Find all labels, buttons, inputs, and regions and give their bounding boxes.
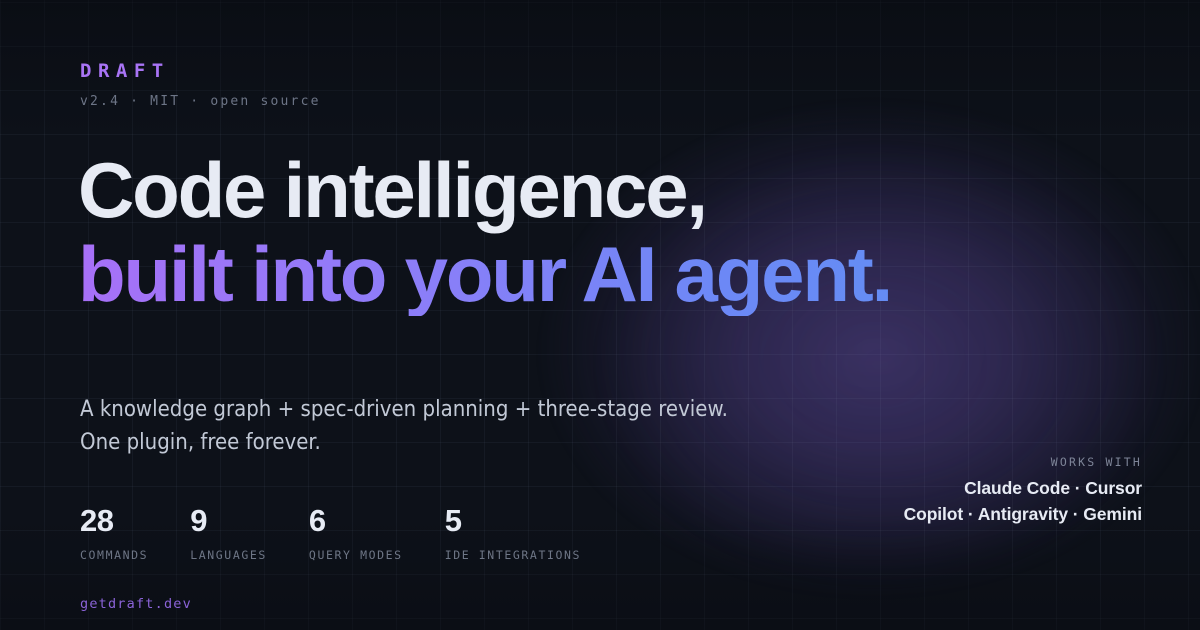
- stat-value: 9: [190, 505, 267, 536]
- stat-label: QUERY MODES: [309, 548, 403, 562]
- hero-content: DRAFT v2.4 · MIT · open source Code inte…: [0, 0, 1200, 630]
- works-with-line-2: Copilot · Antigravity · Gemini: [904, 504, 1142, 525]
- subtitle: A knowledge graph + spec-driven planning…: [80, 393, 728, 460]
- stat-item: 9 LANGUAGES: [190, 505, 267, 562]
- brand-block: DRAFT v2.4 · MIT · open source: [80, 60, 321, 109]
- stat-item: 5 IDE INTEGRATIONS: [445, 505, 581, 562]
- subtitle-line-2: One plugin, free forever.: [80, 426, 728, 459]
- site-url[interactable]: getdraft.dev: [80, 596, 192, 612]
- headline-line-2: built into your AI agent.: [78, 232, 1098, 316]
- brand-meta: v2.4 · MIT · open source: [80, 94, 321, 109]
- stat-item: 6 QUERY MODES: [309, 505, 403, 562]
- headline-line-1: Code intelligence,: [78, 148, 1098, 232]
- hero-banner: DRAFT v2.4 · MIT · open source Code inte…: [0, 0, 1200, 630]
- stat-value: 6: [309, 505, 403, 536]
- stats-row: 28 COMMANDS 9 LANGUAGES 6 QUERY MODES 5 …: [80, 505, 581, 562]
- brand-name: DRAFT: [80, 60, 321, 82]
- works-with-line-1: Claude Code · Cursor: [904, 478, 1142, 499]
- page-title: Code intelligence, built into your AI ag…: [78, 148, 1098, 316]
- stat-label: IDE INTEGRATIONS: [445, 548, 581, 562]
- stat-value: 28: [80, 505, 148, 536]
- stat-label: COMMANDS: [80, 548, 148, 562]
- subtitle-line-1: A knowledge graph + spec-driven planning…: [80, 393, 728, 426]
- stat-value: 5: [445, 505, 581, 536]
- stat-item: 28 COMMANDS: [80, 505, 148, 562]
- stat-label: LANGUAGES: [190, 548, 267, 562]
- works-with-label: WORKS WITH: [904, 455, 1142, 469]
- works-with-block: WORKS WITH Claude Code · Cursor Copilot …: [904, 455, 1142, 525]
